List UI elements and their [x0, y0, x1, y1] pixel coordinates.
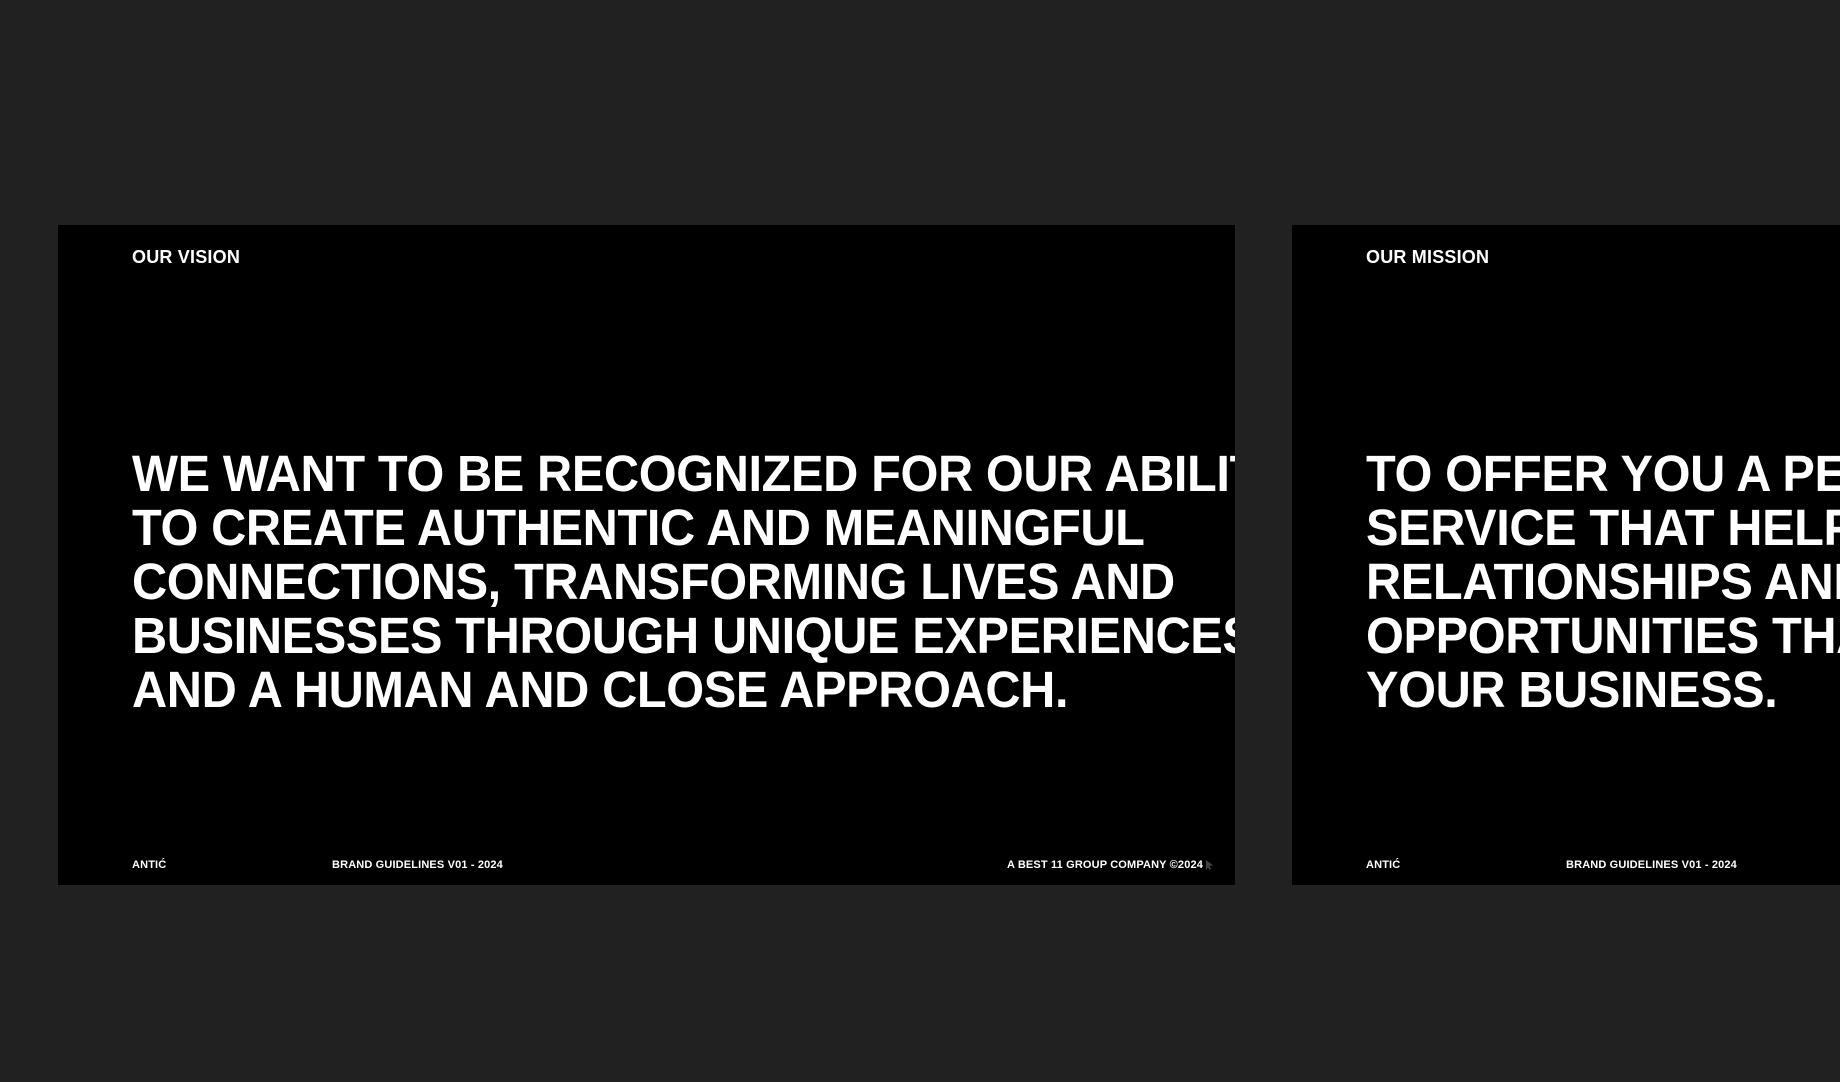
- pointer-cursor-icon: [1206, 860, 1213, 870]
- footer-brand-wordmark: ANTIĆ: [1366, 860, 1400, 871]
- presentation-canvas: OUR VISION WE WANT TO BE RECOGNIZED FOR …: [0, 0, 1840, 1082]
- statement-line: CONNECTIONS, TRANSFORMING LIVES AND: [132, 555, 1235, 609]
- slide-footer: ANTIĆ BRAND GUIDELINES V01 - 2024 A BEST…: [58, 841, 1235, 885]
- statement-line: TO CREATE AUTHENTIC AND MEANINGFUL: [132, 501, 1235, 555]
- slide-our-mission[interactable]: OUR MISSION TO OFFER YOU A PERSONALIZED …: [1292, 225, 1840, 885]
- slide-statement-our-mission: TO OFFER YOU A PERSONALIZED SERVICE THAT…: [1366, 447, 1840, 717]
- slide-footer: ANTIĆ BRAND GUIDELINES V01 - 2024: [1292, 841, 1840, 885]
- slide-statement-our-vision: WE WANT TO BE RECOGNIZED FOR OUR ABILITY…: [132, 447, 1235, 717]
- statement-line: SERVICE THAT HELPS YOU BUILD: [1366, 501, 1840, 555]
- statement-line: AND A HUMAN AND CLOSE APPROACH.: [132, 663, 1235, 717]
- statement-line: OPPORTUNITIES THAT GROW: [1366, 609, 1840, 663]
- slide-our-vision[interactable]: OUR VISION WE WANT TO BE RECOGNIZED FOR …: [58, 225, 1235, 885]
- footer-document-title: BRAND GUIDELINES V01 - 2024: [332, 860, 503, 871]
- footer-copyright: A BEST 11 GROUP COMPANY ©2024: [1007, 860, 1203, 871]
- footer-brand-wordmark: ANTIĆ: [132, 860, 166, 871]
- statement-line: TO OFFER YOU A PERSONALIZED: [1366, 447, 1840, 501]
- footer-document-title: BRAND GUIDELINES V01 - 2024: [1566, 860, 1737, 871]
- slide-eyebrow-label: OUR VISION: [132, 248, 240, 266]
- statement-line: WE WANT TO BE RECOGNIZED FOR OUR ABILITY: [132, 447, 1235, 501]
- slide-eyebrow-label: OUR MISSION: [1366, 248, 1489, 266]
- statement-line: RELATIONSHIPS AND DISCOVER: [1366, 555, 1840, 609]
- statement-line: BUSINESSES THROUGH UNIQUE EXPERIENCES: [132, 609, 1235, 663]
- statement-line: YOUR BUSINESS.: [1366, 663, 1840, 717]
